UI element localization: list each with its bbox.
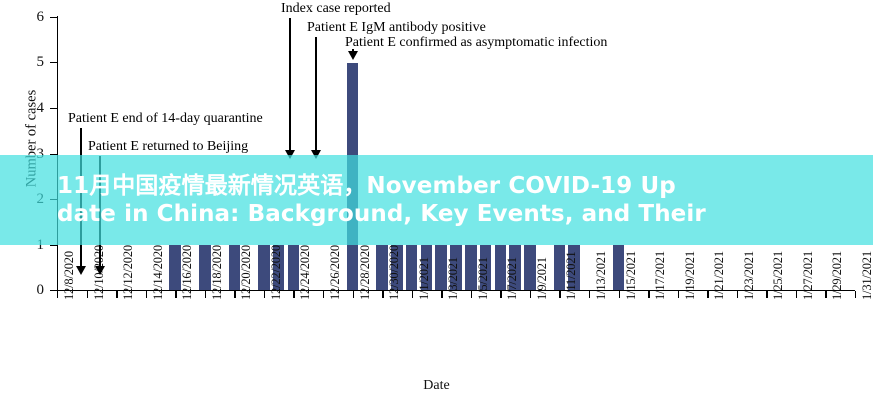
x-tick [530, 291, 531, 298]
x-tick [559, 291, 560, 298]
x-tick [234, 291, 235, 298]
y-tick-4 [50, 108, 57, 109]
annotation-label-returned-beijing: Patient E returned to Beijing [88, 140, 248, 154]
x-tick-label: 1/25/2021 [771, 251, 786, 300]
x-tick [353, 291, 354, 298]
y-tick-label-6: 6 [6, 10, 44, 25]
x-tick-label: 12/20/2020 [239, 245, 254, 300]
x-tick-label: 1/7/2021 [505, 257, 520, 300]
x-tick [264, 291, 265, 298]
x-tick-label: 1/31/2021 [860, 251, 873, 300]
x-tick [707, 291, 708, 298]
x-tick [116, 291, 117, 298]
x-tick-label: 12/26/2020 [328, 245, 343, 300]
x-tick [175, 291, 176, 298]
y-tick-label-0: 0 [6, 283, 44, 298]
x-tick [205, 291, 206, 298]
x-tick-label: 1/13/2021 [594, 251, 609, 300]
y-tick-0 [50, 290, 57, 291]
bar [465, 245, 477, 291]
x-tick [737, 291, 738, 298]
x-tick [796, 291, 797, 298]
x-tick-label: 1/19/2021 [683, 251, 698, 300]
bar [258, 245, 270, 291]
x-tick [825, 291, 826, 298]
x-tick-label: 1/9/2021 [535, 257, 550, 300]
x-tick-label: 12/14/2020 [151, 245, 166, 300]
x-tick [293, 291, 294, 298]
x-tick-label: 12/22/2020 [269, 245, 284, 300]
y-tick-5 [50, 62, 57, 63]
x-tick-label: 1/11/2021 [564, 252, 579, 300]
x-tick [855, 291, 856, 298]
y-tick-6 [50, 17, 57, 18]
x-tick-label: 1/17/2021 [653, 251, 668, 300]
x-tick-label: 12/16/2020 [180, 245, 195, 300]
overlay-headline: 11月中国疫情最新情况英语，November COVID-19 Up date … [0, 155, 873, 245]
x-tick-label: 12/30/2020 [387, 245, 402, 300]
x-tick [589, 291, 590, 298]
x-tick-label: 1/3/2021 [446, 257, 461, 300]
x-tick-label: 1/23/2021 [742, 251, 757, 300]
x-tick-label: 12/28/2020 [358, 245, 373, 300]
x-tick-label: 1/21/2021 [712, 251, 727, 300]
x-tick [57, 291, 58, 298]
x-tick [678, 291, 679, 298]
annotation-label-igm-positive: Patient E IgM antibody positive [307, 21, 486, 35]
x-tick [412, 291, 413, 298]
x-tick-label: 1/29/2021 [830, 251, 845, 300]
x-tick-label: 12/8/2020 [62, 251, 77, 300]
x-tick-label: 12/12/2020 [121, 245, 136, 300]
bar [613, 245, 625, 291]
annotation-label-asymptomatic-confirmed: Patient E confirmed as asymptomatic infe… [345, 36, 607, 50]
x-tick [382, 291, 383, 298]
x-tick-label: 1/15/2021 [624, 251, 639, 300]
y-tick-1 [50, 245, 57, 246]
bar [524, 245, 536, 291]
x-tick [146, 291, 147, 298]
overlay-headline-line-2: date in China: Background, Key Events, a… [57, 200, 873, 228]
x-tick [619, 291, 620, 298]
chart-figure: 6 5 4 3 2 1 0 Number of cases 12/8/20201… [0, 0, 873, 400]
x-tick [648, 291, 649, 298]
x-tick [87, 291, 88, 298]
x-tick-label: 1/5/2021 [476, 257, 491, 300]
y-axis-line [57, 16, 58, 291]
bar [199, 245, 211, 291]
x-tick-label: 1/27/2021 [801, 251, 816, 300]
x-tick [471, 291, 472, 298]
x-tick-label: 12/24/2020 [298, 245, 313, 300]
x-tick [766, 291, 767, 298]
x-tick [500, 291, 501, 298]
bar [406, 245, 418, 291]
x-tick [441, 291, 442, 298]
annotation-label-quarantine-end: Patient E end of 14-day quarantine [68, 112, 263, 126]
x-tick-label: 12/18/2020 [210, 245, 225, 300]
x-axis-title: Date [0, 378, 873, 394]
overlay-headline-line-1: 11月中国疫情最新情况英语，November COVID-19 Up [57, 172, 873, 200]
annotation-label-index-case: Index case reported [281, 2, 391, 16]
x-tick [323, 291, 324, 298]
x-tick-label: 1/1/2021 [417, 257, 432, 300]
